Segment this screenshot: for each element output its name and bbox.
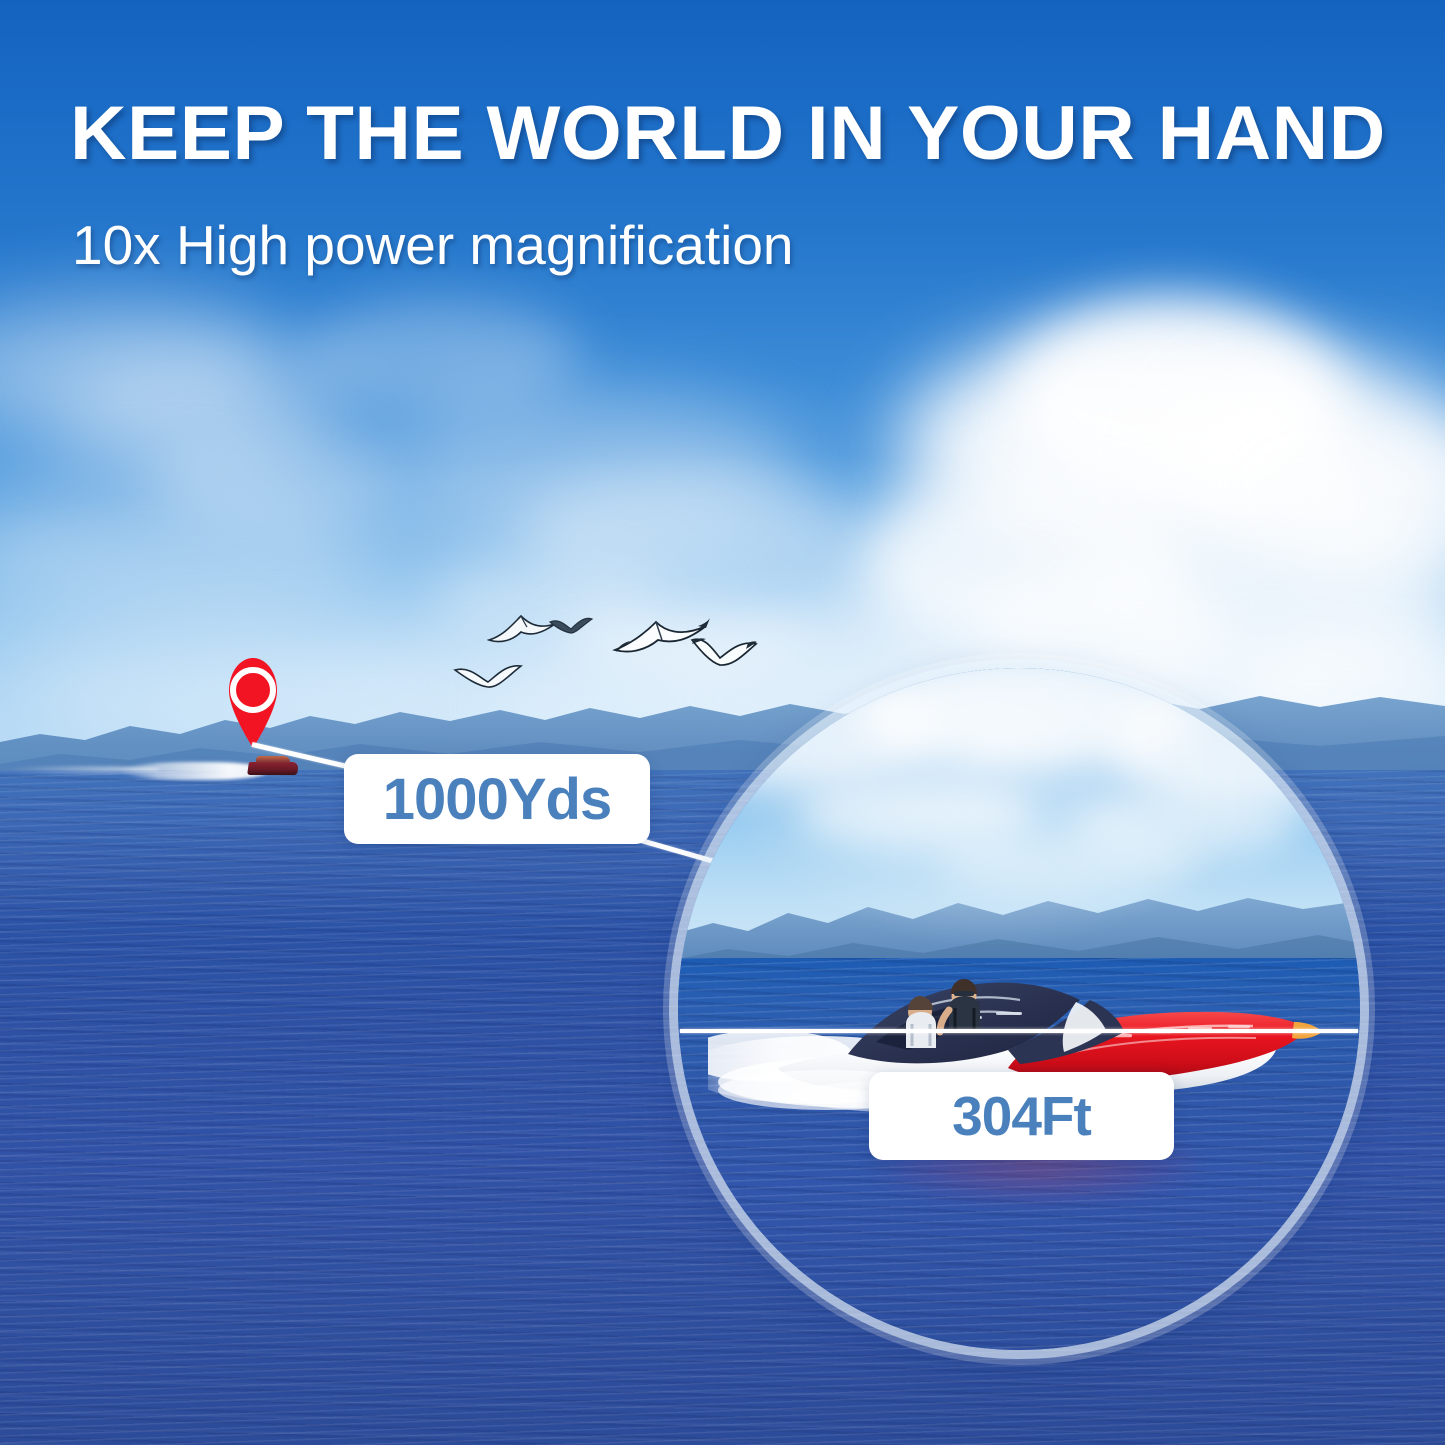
measurement-line <box>680 1029 1358 1033</box>
seagull-icon <box>452 658 524 692</box>
distance-badge[interactable]: 1000Yds <box>344 754 650 844</box>
page-subtitle: 10x High power magnification <box>72 215 1272 276</box>
page-title: KEEP THE WORLD IN YOUR HAND <box>70 96 1430 172</box>
promo-banner: KEEP THE WORLD IN YOUR HAND 10x High pow… <box>0 0 1445 1445</box>
seagull-icon <box>690 630 760 670</box>
map-pin-marker[interactable] <box>219 655 287 749</box>
magnifier-lens[interactable] <box>678 668 1360 1350</box>
seagull-icon <box>548 614 594 636</box>
object-size-badge[interactable]: 304Ft <box>869 1072 1174 1160</box>
